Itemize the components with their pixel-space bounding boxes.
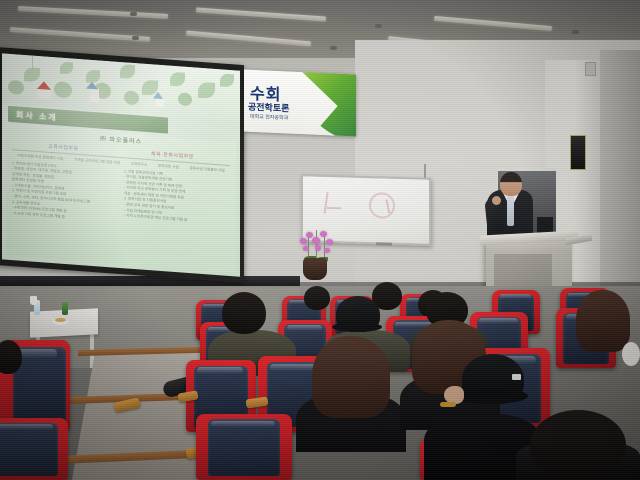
seat[interactable] — [196, 414, 292, 480]
wall-banner: 수회 공전학토론 대학교 전자공학과 — [244, 70, 356, 137]
seat-highlight — [270, 364, 318, 372]
leaf-icon — [60, 62, 73, 75]
orchid-flower — [320, 231, 327, 237]
seat-highlight — [0, 424, 53, 430]
org-box: 교육연구소 — [131, 162, 148, 168]
presenter-tie — [507, 196, 514, 226]
projection-screen: 회사 소개 ㈜ 파오플러스 교육사업부문 체육·문화사업부문 어린이체험 부설 … — [0, 47, 244, 283]
seat[interactable] — [0, 418, 68, 480]
org-box: 어린이체험 부설 문화센터 사업 — [17, 153, 63, 161]
banner-caption: 대학교 전자공학과 — [250, 113, 288, 122]
ceiling-fitting — [130, 12, 137, 16]
presenter-head — [500, 172, 522, 196]
wall-mounted-speaker-icon — [570, 135, 586, 170]
leaf-icon — [198, 82, 215, 99]
orchid-flower — [300, 238, 307, 244]
ceiling-light-fixture — [434, 16, 552, 31]
tree-icon — [124, 90, 139, 105]
leaf-icon — [24, 67, 40, 82]
orchid-flower — [315, 245, 321, 251]
whiteboard-marker-trace — [324, 192, 347, 217]
attendee-collar — [622, 342, 640, 366]
seat-highlight — [479, 318, 517, 324]
ceiling-light-fixture — [196, 7, 326, 21]
ceiling-light-fixture — [186, 31, 311, 47]
attendee-wristband — [440, 402, 456, 407]
banner-chevron-graphic — [298, 70, 356, 137]
tree-icon — [178, 92, 192, 106]
seat-cushion — [0, 423, 58, 476]
house-roof-icon — [153, 91, 163, 99]
house-roof-icon — [37, 81, 51, 90]
org-box: 문화공연 사업 — [158, 164, 179, 170]
orchid-flower — [324, 248, 330, 253]
attendee-head — [530, 410, 626, 480]
orchid-flower — [306, 232, 313, 238]
ceiling-light-fixture — [18, 6, 168, 19]
wall-box-icon — [585, 62, 596, 76]
attendee-head — [0, 340, 22, 374]
slide-column-left: 1. ㈜파오센터 직접운영 5개소 - 평촌점, 의정부, 대구점, 목동점, … — [12, 161, 118, 224]
paper-cup[interactable] — [30, 296, 37, 305]
tree-icon — [8, 80, 24, 95]
ceiling-fitting — [572, 30, 579, 34]
ceiling-light-fixture — [10, 27, 150, 42]
house-roof-icon — [86, 82, 98, 90]
leaf-icon — [120, 64, 135, 79]
projected-slide: 회사 소개 ㈜ 파오플러스 교육사업부문 체육·문화사업부문 어린이체험 부설 … — [2, 53, 240, 276]
seat-highlight — [287, 325, 323, 330]
leaf-icon — [170, 72, 185, 87]
orchid-flower — [326, 239, 333, 245]
attendee-head — [312, 336, 390, 418]
whiteboard-marker-trace — [374, 199, 391, 215]
green-bottle[interactable] — [62, 302, 68, 315]
house-icon — [90, 88, 99, 103]
attendee-head — [222, 292, 266, 334]
cap-logo-icon — [512, 374, 521, 380]
tree-icon — [54, 81, 72, 98]
seat-highlight — [211, 421, 274, 428]
lecture-hall-photo: 회사 소개 ㈜ 파오플러스 교육사업부문 체육·문화사업부문 어린이체험 부설 … — [0, 0, 640, 480]
whiteboard-marker-tray — [376, 242, 392, 245]
slide-column-right: 1. 각종 문화공연사업 기획 - 뮤지컬, 전통문화체험 공연기획 - 문화원… — [124, 169, 230, 232]
orchid-flower — [312, 237, 320, 244]
whiteboard-hook — [424, 164, 426, 178]
ceiling-fitting — [330, 46, 337, 50]
orchid-pot — [303, 258, 327, 280]
ceiling-fitting — [375, 24, 382, 28]
cap-brim-icon — [332, 322, 382, 332]
slide-body: ㈜ 파오플러스 교육사업부문 체육·문화사업부문 어린이체험 부설 문화센터 사… — [6, 126, 236, 273]
whiteboard-marker-trace — [327, 207, 341, 209]
seat-cushion — [208, 419, 281, 476]
seat-highlight — [197, 367, 243, 374]
attendee-head — [576, 290, 630, 352]
slide-columns: 1. ㈜파오센터 직접운영 5개소 - 평촌점, 의정부, 대구점, 목동점, … — [12, 161, 230, 233]
seat-highlight — [500, 294, 532, 298]
presenter-hand — [492, 196, 501, 205]
plate-food — [55, 318, 66, 322]
leaf-icon — [220, 73, 234, 87]
org-box: 문화사업 지원홍보 사업 — [190, 166, 225, 173]
org-box: 가족용 교육프로그램 공급 사업 — [74, 158, 120, 166]
ceiling-fitting — [132, 36, 139, 40]
attendee-head — [304, 286, 330, 310]
slide-title-text: 회사 소개 — [16, 109, 58, 123]
orchid-flower — [303, 246, 309, 251]
